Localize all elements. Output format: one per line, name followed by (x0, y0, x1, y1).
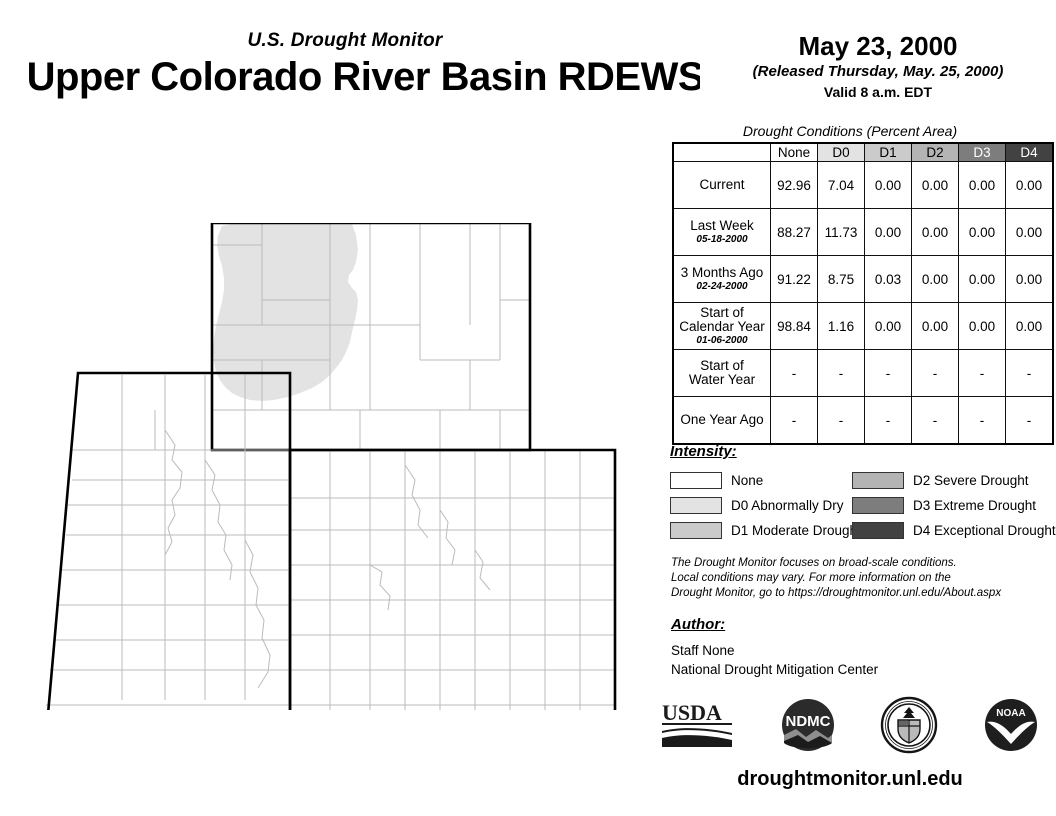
row-label: One Year Ago (673, 397, 771, 445)
cell-d0: - (818, 350, 865, 397)
cell-d0: 7.04 (818, 162, 865, 209)
legend-swatch-r1 (852, 497, 904, 514)
cell-d1: 0.00 (865, 209, 912, 256)
row-label: Last Week05-18-2000 (673, 209, 771, 256)
drought-conditions-table: None D0 D1 D2 D3 D4 Current92.967.040.00… (672, 142, 1054, 445)
row-label: Start ofCalendar Year01-06-2000 (673, 303, 771, 350)
legend-swatch-l1 (670, 497, 722, 514)
cell-d3: 0.00 (959, 209, 1006, 256)
cell-none: - (771, 397, 818, 445)
table-row: Start ofWater Year------ (673, 350, 1053, 397)
cell-d1: - (865, 397, 912, 445)
legend-label: D0 Abnormally Dry (731, 498, 844, 513)
cell-d2: 0.00 (912, 162, 959, 209)
table-row: Last Week05-18-200088.2711.730.000.000.0… (673, 209, 1053, 256)
legend-item: D3 Extreme Drought (852, 493, 1056, 518)
cell-d0: 1.16 (818, 303, 865, 350)
svg-text:USDA: USDA (662, 700, 722, 725)
page-title: Upper Colorado River Basin RDEWS (0, 55, 700, 100)
legend-label: D1 Moderate Drought (731, 523, 861, 538)
table-row: One Year Ago------ (673, 397, 1053, 445)
legend-swatch-l2 (670, 522, 722, 539)
legend-item: D4 Exceptional Drought (852, 518, 1056, 543)
cell-d4: 0.00 (1006, 209, 1054, 256)
legend-item: D0 Abnormally Dry (670, 493, 861, 518)
cell-d2: 0.00 (912, 209, 959, 256)
legend-label: D2 Severe Drought (913, 473, 1029, 488)
legend-item: None (670, 468, 861, 493)
disclaimer-line-1: The Drought Monitor focuses on broad-sca… (671, 556, 1051, 571)
table-body: Current92.967.040.000.000.000.00Last Wee… (673, 162, 1053, 445)
site-url: droughtmonitor.unl.edu (660, 768, 1040, 791)
cell-d2: 0.00 (912, 303, 959, 350)
author-block: Staff None National Drought Mitigation C… (671, 641, 878, 679)
svg-text:NOAA: NOAA (996, 708, 1025, 719)
legend-column-left: NoneD0 Abnormally DryD1 Moderate Drought (670, 468, 861, 543)
cell-d2: - (912, 397, 959, 445)
cell-none: 88.27 (771, 209, 818, 256)
cell-d0: 11.73 (818, 209, 865, 256)
usdc-seal-logo (880, 696, 938, 759)
cell-d2: - (912, 350, 959, 397)
author-organization: National Drought Mitigation Center (671, 660, 878, 679)
column-header-d2: D2 (912, 143, 959, 162)
column-header-d0: D0 (818, 143, 865, 162)
table-caption: Drought Conditions (Percent Area) (660, 123, 1040, 139)
author-heading: Author: (671, 616, 725, 633)
drought-map[interactable] (0, 110, 660, 710)
disclaimer-text: The Drought Monitor focuses on broad-sca… (671, 556, 1051, 601)
usda-logo: USDA (660, 700, 736, 755)
cell-d3: - (959, 397, 1006, 445)
disclaimer-line-3: Drought Monitor, go to https://droughtmo… (671, 586, 1051, 601)
logo-row: USDA NDMC NOAA (660, 696, 1040, 758)
column-header-d1: D1 (865, 143, 912, 162)
svg-text:NDMC: NDMC (786, 713, 831, 730)
release-date: (Released Thursday, May. 25, 2000) (700, 63, 1056, 80)
cell-d1: 0.00 (865, 303, 912, 350)
table-corner-cell (673, 143, 771, 162)
column-header-d4: D4 (1006, 143, 1054, 162)
cell-none: - (771, 350, 818, 397)
legend-swatch-r0 (852, 472, 904, 489)
legend-label: D3 Extreme Drought (913, 498, 1036, 513)
cell-d4: - (1006, 397, 1054, 445)
drought-monitor-subtitle: U.S. Drought Monitor (0, 30, 690, 52)
legend-swatch-l0 (670, 472, 722, 489)
cell-d0: - (818, 397, 865, 445)
legend-column-right: D2 Severe DroughtD3 Extreme DroughtD4 Ex… (852, 468, 1056, 543)
row-label-date: 05-18-2000 (677, 234, 767, 246)
cell-d1: 0.03 (865, 256, 912, 303)
cell-d3: 0.00 (959, 256, 1006, 303)
cell-none: 92.96 (771, 162, 818, 209)
valid-time: Valid 8 a.m. EDT (700, 84, 1056, 100)
cell-d3: - (959, 350, 1006, 397)
cell-d4: - (1006, 350, 1054, 397)
cell-d1: - (865, 350, 912, 397)
legend-label: None (731, 473, 763, 488)
author-name: Staff None (671, 641, 878, 660)
map-edge-clip (0, 110, 660, 223)
table-row: 3 Months Ago02-24-200091.228.750.030.000… (673, 256, 1053, 303)
legend-label: D4 Exceptional Drought (913, 523, 1056, 538)
cell-none: 91.22 (771, 256, 818, 303)
row-label: Start ofWater Year (673, 350, 771, 397)
cell-d4: 0.00 (1006, 303, 1054, 350)
cell-d4: 0.00 (1006, 256, 1054, 303)
table-header-row: None D0 D1 D2 D3 D4 (673, 143, 1053, 162)
table-row: Current92.967.040.000.000.000.00 (673, 162, 1053, 209)
map-date: May 23, 2000 (700, 31, 1056, 62)
column-header-none: None (771, 143, 818, 162)
row-label: Current (673, 162, 771, 209)
cell-none: 98.84 (771, 303, 818, 350)
legend-item: D2 Severe Drought (852, 468, 1056, 493)
cell-d2: 0.00 (912, 256, 959, 303)
table-row: Start ofCalendar Year01-06-200098.841.16… (673, 303, 1053, 350)
legend-item: D1 Moderate Drought (670, 518, 861, 543)
intensity-heading: Intensity: (670, 443, 737, 460)
row-label-date: 01-06-2000 (677, 335, 767, 347)
legend-swatch-r2 (852, 522, 904, 539)
cell-d0: 8.75 (818, 256, 865, 303)
row-label: 3 Months Ago02-24-2000 (673, 256, 771, 303)
cell-d3: 0.00 (959, 303, 1006, 350)
row-label-date: 02-24-2000 (677, 281, 767, 293)
column-header-d3: D3 (959, 143, 1006, 162)
cell-d1: 0.00 (865, 162, 912, 209)
disclaimer-line-2: Local conditions may vary. For more info… (671, 571, 1051, 586)
noaa-logo: NOAA (982, 696, 1040, 759)
ndmc-logo: NDMC (780, 697, 836, 758)
cell-d3: 0.00 (959, 162, 1006, 209)
cell-d4: 0.00 (1006, 162, 1054, 209)
page-title-text: Upper Colorado River Basin RDEWS (27, 55, 700, 100)
